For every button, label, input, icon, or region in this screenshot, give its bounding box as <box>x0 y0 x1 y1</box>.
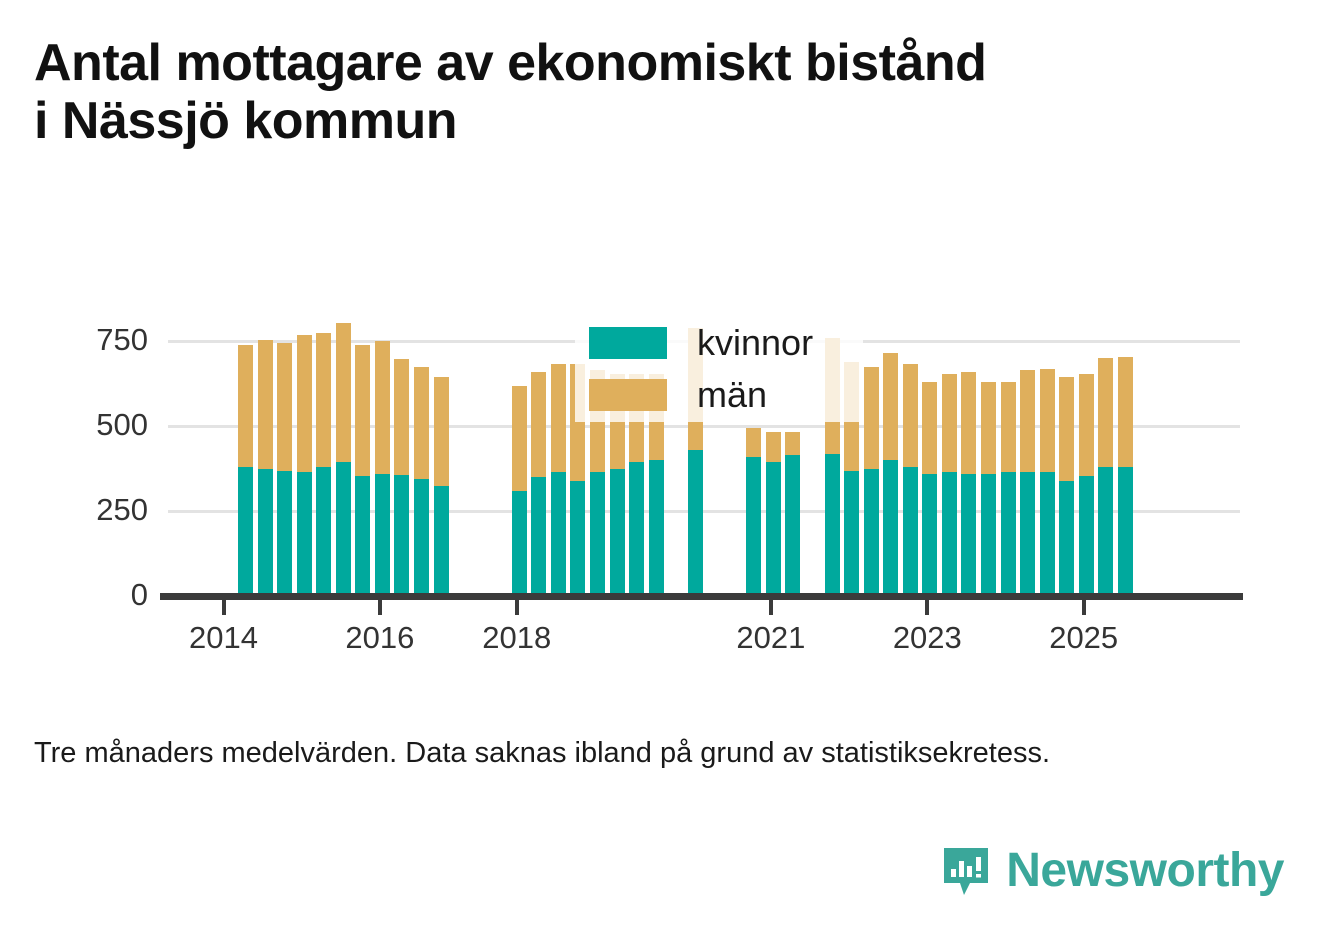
bar-segment-man <box>1098 358 1113 467</box>
bar-segment-kvinnor <box>258 469 273 593</box>
bar-segment-kvinnor <box>922 474 937 593</box>
legend-swatch-man <box>589 379 667 411</box>
bar-segment-kvinnor <box>355 476 370 593</box>
bar-segment-kvinnor <box>844 471 859 593</box>
bar-segment-man <box>1040 369 1055 473</box>
bar-chart-speech-bubble-icon <box>940 845 992 897</box>
bar-segment-kvinnor <box>785 455 800 593</box>
bar-stack <box>922 382 937 593</box>
y-tick-label-0: 0 <box>40 579 148 610</box>
bar-stack <box>785 432 800 594</box>
bar-segment-man <box>785 432 800 456</box>
bar-segment-man <box>864 367 879 469</box>
bar-segment-kvinnor <box>1040 472 1055 593</box>
bar-stack <box>394 359 409 593</box>
bar-segment-man <box>766 432 781 463</box>
bar-segment-man <box>238 345 253 467</box>
bar-segment-man <box>297 335 312 473</box>
bar-stack <box>981 382 996 593</box>
x-tick-label-2018: 2018 <box>482 620 551 656</box>
bar-segment-man <box>414 367 429 479</box>
bar-segment-man <box>1118 357 1133 468</box>
bar-chart: 750 500 250 0 201420162018202120232025 k… <box>0 0 1322 939</box>
y-tick-label-750: 750 <box>40 324 148 355</box>
x-tick-label-2021: 2021 <box>736 620 805 656</box>
bar-stack <box>375 341 390 593</box>
bar-segment-kvinnor <box>414 479 429 593</box>
bar-segment-kvinnor <box>864 469 879 593</box>
bar-segment-kvinnor <box>746 457 761 593</box>
bar-segment-kvinnor <box>903 467 918 593</box>
bar-stack <box>746 428 761 593</box>
x-tick-label-2016: 2016 <box>345 620 414 656</box>
bar-segment-man <box>1079 374 1094 476</box>
bar-stack <box>355 345 370 593</box>
bar-segment-man <box>316 333 331 467</box>
bar-segment-man <box>336 323 351 462</box>
bar-stack <box>297 335 312 593</box>
bar-stack <box>238 345 253 593</box>
bar-stack <box>883 353 898 593</box>
bar-stack <box>531 372 546 593</box>
x-tick-2021 <box>769 600 773 615</box>
bar-stack <box>336 323 351 593</box>
x-tick-label-2023: 2023 <box>893 620 962 656</box>
bar-stack <box>903 364 918 594</box>
x-tick-2023 <box>925 600 929 615</box>
bar-segment-kvinnor <box>1020 472 1035 593</box>
bar-stack <box>1118 357 1133 593</box>
bar-segment-man <box>258 340 273 469</box>
bar-stack <box>1001 382 1016 593</box>
bar-stack <box>942 374 957 593</box>
bar-stack <box>512 386 527 593</box>
bar-segment-kvinnor <box>434 486 449 593</box>
bar-segment-man <box>394 359 409 475</box>
bar-stack <box>277 343 292 593</box>
bar-segment-kvinnor <box>1059 481 1074 593</box>
bar-segment-man <box>375 341 390 474</box>
chart-legend: kvinnor män <box>575 318 863 422</box>
bar-segment-kvinnor <box>570 481 585 593</box>
legend-swatch-kvinnor <box>589 327 667 359</box>
bar-stack <box>1040 369 1055 593</box>
bar-segment-man <box>961 372 976 474</box>
bar-stack <box>434 377 449 593</box>
bar-segment-kvinnor <box>1001 472 1016 593</box>
bar-segment-man <box>512 386 527 491</box>
bar-segment-kvinnor <box>629 462 644 593</box>
bar-stack <box>551 364 566 594</box>
bar-segment-kvinnor <box>649 460 664 593</box>
bar-segment-kvinnor <box>825 454 840 593</box>
bar-segment-kvinnor <box>297 472 312 593</box>
x-axis-line <box>160 593 1243 600</box>
legend-item-kvinnor: kvinnor <box>589 326 813 360</box>
x-tick-2014 <box>222 600 226 615</box>
bar-segment-man <box>1020 370 1035 472</box>
bar-segment-kvinnor <box>688 450 703 593</box>
x-tick-2018 <box>515 600 519 615</box>
bar-segment-kvinnor <box>766 462 781 593</box>
bar-segment-kvinnor <box>942 472 957 593</box>
bar-stack <box>1020 370 1035 593</box>
bar-segment-kvinnor <box>883 460 898 593</box>
bar-stack <box>1098 358 1113 593</box>
bar-segment-man <box>1001 382 1016 472</box>
legend-label-kvinnor: kvinnor <box>697 322 813 364</box>
bar-segment-man <box>277 343 292 471</box>
bar-segment-kvinnor <box>590 472 605 593</box>
bar-segment-kvinnor <box>1118 467 1133 593</box>
bar-segment-kvinnor <box>981 474 996 593</box>
y-tick-label-500: 500 <box>40 409 148 440</box>
bar-segment-kvinnor <box>336 462 351 593</box>
bar-segment-kvinnor <box>375 474 390 593</box>
bar-segment-man <box>746 428 761 457</box>
bar-segment-man <box>551 364 566 473</box>
bar-segment-kvinnor <box>551 472 566 593</box>
bar-segment-man <box>531 372 546 477</box>
bar-segment-man <box>355 345 370 476</box>
bar-segment-kvinnor <box>238 467 253 593</box>
x-tick-2025 <box>1082 600 1086 615</box>
x-tick-label-2025: 2025 <box>1049 620 1118 656</box>
bar-segment-man <box>1059 377 1074 481</box>
bar-segment-man <box>922 382 937 474</box>
brand-name: Newsworthy <box>1006 847 1284 895</box>
bar-stack <box>414 367 429 593</box>
bar-segment-man <box>903 364 918 468</box>
bar-stack <box>766 432 781 594</box>
legend-item-man: män <box>589 378 767 412</box>
y-tick-label-250: 250 <box>40 494 148 525</box>
x-tick-2016 <box>378 600 382 615</box>
bar-segment-kvinnor <box>1079 476 1094 593</box>
bar-stack <box>316 333 331 593</box>
bar-segment-kvinnor <box>961 474 976 593</box>
bar-segment-man <box>883 353 898 460</box>
bar-segment-kvinnor <box>394 475 409 593</box>
bar-segment-kvinnor <box>1098 467 1113 593</box>
x-tick-label-2014: 2014 <box>189 620 258 656</box>
bar-stack <box>1059 377 1074 593</box>
bar-stack <box>258 340 273 593</box>
bar-segment-kvinnor <box>316 467 331 593</box>
bar-segment-kvinnor <box>531 477 546 593</box>
bar-segment-kvinnor <box>512 491 527 593</box>
bar-stack <box>1079 374 1094 593</box>
bar-stack <box>961 372 976 593</box>
bar-segment-man <box>981 382 996 474</box>
bar-stack <box>864 367 879 593</box>
bar-segment-man <box>434 377 449 486</box>
legend-label-man: män <box>697 374 767 416</box>
newsworthy-logo: Newsworthy <box>940 845 1284 897</box>
bar-segment-man <box>942 374 957 473</box>
chart-footnote: Tre månaders medelvärden. Data saknas ib… <box>34 737 1050 770</box>
bar-segment-kvinnor <box>610 469 625 593</box>
bar-segment-kvinnor <box>277 471 292 593</box>
